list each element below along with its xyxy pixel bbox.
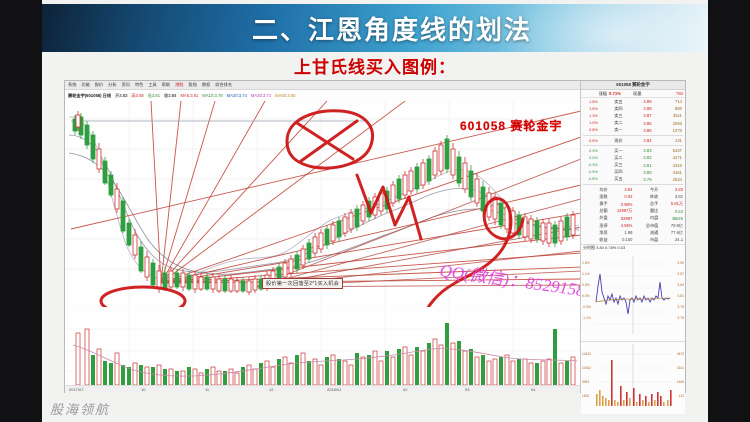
ask-price-1: 3.85 — [626, 128, 655, 133]
quote-lastvol-label: 现量 — [633, 91, 659, 97]
volume-bars — [76, 323, 575, 385]
quote-panel[interactable]: 601058 赛轮金宇 涨幅 0.71% 现量 784 1.8% 卖五 3.89… — [581, 81, 685, 392]
bid-pct-2: 0.0% — [581, 156, 600, 160]
bid-qty-4: 4161 — [655, 170, 685, 175]
quote-change-label: 涨幅 — [581, 91, 609, 97]
stat-key-2: 换手 — [581, 201, 610, 207]
stat-val-0: 3.84 — [610, 187, 636, 192]
intraday-volume[interactable]: 4673 3161 1649 132 14330 10162 5994 1826 — [581, 341, 685, 414]
stat-val-2: 0.98% — [610, 202, 636, 207]
stat-key-7: 收益 — [581, 237, 610, 243]
ivol-tick-2: 1649 — [677, 380, 684, 384]
date-tick-0: 2017/07 — [69, 387, 83, 392]
bid-pct-1: 0.3% — [581, 149, 600, 153]
ask-qty-2: 2093 — [655, 121, 685, 126]
stat-val2-3: 0.53 — [660, 209, 685, 214]
stat-row-0: 均价 3.84 今开 3.83 — [581, 186, 685, 193]
menu-item-8[interactable]: 港股 — [175, 82, 183, 88]
bid-label-1: 买一 — [600, 148, 626, 154]
bid-label-4: 买四 — [600, 169, 626, 175]
trading-app-window: 系统 功能 报价 分析 资讯 特色 工具 帮助 港股 股指 期权 综合排名 赛轮… — [64, 80, 686, 393]
stat-val2-7: 24.1 — [660, 237, 685, 242]
ivol-tick-0: 4673 — [677, 352, 684, 356]
stat-key2-7: 市盈 — [635, 237, 660, 243]
date-tick-3: 12 — [269, 387, 273, 392]
last-label: 现价 — [600, 138, 626, 144]
bid-qty-3: 4310 — [655, 163, 685, 168]
stat-row-1: 涨跌 0.03 昨收 3.81 — [581, 193, 685, 200]
bottom-watermark: 股海领航 — [50, 399, 110, 418]
date-tick-4: 2018/01 — [327, 387, 341, 392]
bid-price-1: 3.83 — [626, 148, 655, 153]
menu-item-9[interactable]: 股指 — [189, 82, 197, 88]
stat-row-4: 外盘 52987 内盘 48645 — [581, 215, 685, 222]
ask-label-5: 卖五 — [600, 99, 626, 105]
ask-price-2: 3.86 — [626, 121, 655, 126]
indicator-high: 高3.88 — [131, 93, 143, 99]
bid-pct-4: -0.5% — [581, 170, 600, 174]
volume-chart-svg[interactable] — [65, 309, 580, 393]
ivoll-tick-0: 14330 — [582, 352, 591, 356]
menu-item-6[interactable]: 工具 — [148, 82, 156, 88]
ask-label-3: 卖三 — [600, 113, 626, 119]
stat-val2-2: 5.81万 — [660, 201, 685, 207]
bid-label-5: 买五 — [600, 176, 626, 182]
intraday-volume-svg[interactable]: 4673 3161 1649 132 14330 10162 5994 1826 — [581, 342, 685, 414]
bid-pct-3: -0.3% — [581, 163, 600, 167]
stat-val-7: 0.150 — [610, 237, 636, 242]
ask-qty-4: 860 — [655, 106, 685, 111]
bid-row-4[interactable]: -0.5% 买四 3.80 4161 — [581, 169, 685, 176]
ask-qty-1: 1270 — [655, 128, 685, 133]
stat-key2-0: 今开 — [635, 187, 660, 193]
quote-divider-3 — [583, 184, 683, 185]
intraday-chart[interactable]: 分时图 3.84 0.78% 0.03 1.6% — [581, 244, 685, 341]
stat-row-6: 净资 1.98 流通 77.6亿 — [581, 229, 685, 236]
stat-val2-1: 3.81 — [660, 194, 685, 199]
ask-row-2[interactable]: 1.0% 卖二 3.86 2093 — [581, 120, 685, 127]
bid-price-2: 3.82 — [626, 155, 655, 160]
ask-label-1: 卖一 — [600, 127, 626, 133]
bid-qty-5: 2534 — [655, 177, 685, 182]
ask-price-3: 3.87 — [626, 113, 655, 118]
stat-val-3: 12987万 — [610, 208, 636, 214]
ivoll-tick-3: 1826 — [582, 394, 589, 398]
date-tick-2: 11 — [205, 387, 209, 392]
date-tick-1: 10 — [141, 387, 145, 392]
stat-key-1: 涨跌 — [581, 194, 610, 200]
ask-price-5: 3.89 — [626, 99, 655, 104]
stat-key2-2: 总手 — [635, 201, 660, 207]
stat-row-3: 总额 12987万 量比 0.53 — [581, 208, 685, 215]
stat-val2-6: 77.6亿 — [660, 230, 685, 236]
menu-item-2[interactable]: 报价 — [95, 82, 103, 88]
ask-row-1[interactable]: 0.8% 卖一 3.85 1270 — [581, 127, 685, 134]
menu-item-0[interactable]: 系统 — [68, 82, 76, 88]
bid-label-2: 买二 — [600, 155, 626, 161]
app-menubar[interactable]: 系统 功能 报价 分析 资讯 特色 工具 帮助 港股 股指 期权 综合排名 — [65, 81, 580, 90]
menu-item-7[interactable]: 帮助 — [162, 82, 170, 88]
quote-subheader: 涨幅 0.71% 现量 784 — [581, 90, 685, 98]
menu-item-5[interactable]: 特色 — [135, 82, 143, 88]
ivol-tick-3: 132 — [679, 394, 685, 398]
bid-qty-2: 4271 — [655, 155, 685, 160]
slide-title-bar: 二、江恩角度线的划法 — [42, 4, 708, 52]
stat-key2-6: 流通 — [635, 230, 660, 236]
intraday-volume-left-ticks: 14330 10162 5994 1826 — [582, 352, 591, 398]
ask-levels[interactable]: 1.8% 卖五 3.89 714 1.5% 卖四 3.88 860 1.3% 卖… — [581, 98, 685, 134]
letterbox-right — [708, 0, 750, 422]
ask-pct-1: 0.8% — [581, 128, 600, 132]
quote-lastvol-value: 784 — [659, 91, 685, 96]
slide: 二、江恩角度线的划法 上甘氏线买入图例： 系统 功能 报价 分析 资讯 特色 工… — [42, 0, 708, 422]
menu-item-11[interactable]: 综合排名 — [215, 82, 232, 88]
intraday-svg[interactable] — [581, 252, 685, 340]
stat-key2-4: 内盘 — [635, 215, 660, 221]
slide-subtitle: 上甘氏线买入图例： — [42, 53, 708, 77]
buy-point-annotation: 股价第一次回落至2*1买入机会 — [262, 278, 343, 289]
ivoll-tick-2: 5994 — [582, 380, 589, 384]
ivol-tick-1: 3161 — [677, 366, 684, 370]
stat-val-6: 1.98 — [610, 230, 636, 235]
indicator-low: 低3.81 — [148, 93, 160, 99]
indicator-close: 收3.84 — [164, 93, 176, 99]
bid-label-3: 买三 — [600, 162, 626, 168]
ivoll-tick-1: 10162 — [582, 366, 591, 370]
stat-key-0: 均价 — [581, 187, 610, 193]
symbol-callout: 601058 赛轮金宇 — [460, 117, 562, 134]
menu-item-10[interactable]: 期权 — [202, 82, 210, 88]
date-tick-6: 03 — [465, 387, 469, 392]
bid-row-5[interactable]: -0.8% 买五 3.79 2534 — [581, 176, 685, 183]
menu-item-4[interactable]: 资讯 — [122, 82, 130, 88]
indicator-ma5: MA5:3.81 — [180, 93, 198, 98]
stat-val-1: 0.03 — [610, 194, 636, 199]
stat-row-7: 收益 0.150 市盈 24.1 — [581, 236, 685, 243]
quote-change-value: 0.71% — [609, 91, 633, 96]
stat-val-4: 52987 — [610, 216, 636, 221]
ask-pct-3: 1.3% — [581, 114, 600, 118]
quote-header: 601058 赛轮金宇 — [581, 81, 685, 90]
last-price-row[interactable]: 0.5% 现价 3.84 131 — [581, 137, 685, 144]
indicator-ma60: MA60:3.65 — [275, 93, 295, 98]
bid-price-4: 3.80 — [626, 170, 655, 175]
stat-val-5: 4.55% — [610, 223, 636, 228]
intraday-volume-ticks: 4673 3161 1649 132 — [677, 352, 684, 398]
stat-row-2: 换手 0.98% 总手 5.81万 — [581, 200, 685, 207]
ask-row-4[interactable]: 1.5% 卖四 3.88 860 — [581, 105, 685, 112]
last-pct: 0.5% — [581, 139, 600, 143]
ask-pct-4: 1.5% — [581, 107, 600, 111]
indicator-ma20: MA20:3.74 — [227, 93, 247, 98]
stat-val2-0: 3.83 — [660, 187, 685, 192]
screenshot-root: 二、江恩角度线的划法 上甘氏线买入图例： 系统 功能 报价 分析 资讯 特色 工… — [0, 0, 750, 422]
stat-key2-5: 总市值 — [635, 223, 660, 229]
last-qty: 131 — [655, 138, 685, 143]
indicator-open: 开3.83 — [115, 93, 127, 99]
ask-qty-5: 714 — [655, 99, 685, 104]
date-axis: 2017/07 10 11 12 2018/01 02 03 04 — [65, 385, 580, 393]
page-title: 二、江恩角度线的划法 — [42, 4, 708, 52]
markup-ellipse-low-left — [101, 287, 185, 307]
quote-stats: 均价 3.84 今开 3.83 涨跌 0.03 昨收 3.81 换手 0.98% — [581, 186, 685, 244]
stat-key-3: 总额 — [581, 208, 610, 214]
ask-label-4: 卖四 — [600, 106, 626, 112]
volume-chart[interactable]: 2017/07 10 11 12 2018/01 02 03 04 — [65, 309, 580, 393]
letterbox-left — [0, 0, 42, 422]
price-chart[interactable]: 601058 赛轮金宇 QQ(微信)：852915801 — [65, 101, 580, 307]
quote-divider-2 — [583, 145, 683, 146]
last-price: 3.84 — [626, 138, 655, 143]
bid-price-3: 3.81 — [626, 163, 655, 168]
bid-pct-5: -0.8% — [581, 177, 600, 181]
ask-label-2: 卖二 — [600, 120, 626, 126]
ask-pct-5: 1.8% — [581, 100, 600, 104]
ask-row-5[interactable]: 1.8% 卖五 3.89 714 — [581, 98, 685, 105]
bid-price-5: 3.79 — [626, 177, 655, 182]
date-tick-5: 02 — [403, 387, 407, 392]
indicator-ma30: MA30:3.71 — [251, 93, 271, 98]
bid-row-2[interactable]: 0.0% 买二 3.82 4271 — [581, 154, 685, 161]
stat-row-5: 涨停 4.55% 总市值 79.9亿 — [581, 222, 685, 229]
stat-key-5: 涨停 — [581, 223, 610, 229]
stat-val2-5: 79.9亿 — [660, 223, 685, 229]
stat-key-6: 净资 — [581, 230, 610, 236]
date-tick-7: 04 — [531, 387, 535, 392]
chart-pane: 系统 功能 报价 分析 资讯 特色 工具 帮助 港股 股指 期权 综合排名 赛轮… — [65, 81, 581, 392]
stat-val2-4: 48645 — [660, 216, 685, 221]
quote-divider — [583, 135, 683, 136]
stat-key2-1: 昨收 — [635, 194, 660, 200]
intraday-header: 分时图 3.84 0.78% 0.03 — [581, 245, 685, 252]
ask-price-4: 3.88 — [626, 106, 655, 111]
stat-key-4: 外盘 — [581, 215, 610, 221]
stat-key2-3: 量比 — [635, 208, 660, 214]
menu-item-3[interactable]: 分析 — [108, 82, 116, 88]
ask-row-3[interactable]: 1.3% 卖三 3.87 3511 — [581, 112, 685, 119]
bid-levels[interactable]: 0.3% 买一 3.83 5437 0.0% 买二 3.82 4271 -0.3… — [581, 147, 685, 183]
bid-row-1[interactable]: 0.3% 买一 3.83 5437 — [581, 147, 685, 154]
indicator-ma10: MA10:3.78 — [202, 93, 222, 98]
indicator-readout: 赛轮金宇(601058) 日线 开3.83 高3.88 低3.81 收3.84 … — [65, 91, 580, 100]
intraday-volume-bars — [596, 360, 672, 406]
bid-row-3[interactable]: -0.3% 买三 3.81 4310 — [581, 162, 685, 169]
indicator-title: 赛轮金宇(601058) 日线 — [68, 93, 111, 99]
bid-qty-1: 5437 — [655, 148, 685, 153]
ask-qty-3: 3511 — [655, 113, 685, 118]
menu-item-1[interactable]: 功能 — [81, 82, 89, 88]
ask-pct-2: 1.0% — [581, 121, 600, 125]
